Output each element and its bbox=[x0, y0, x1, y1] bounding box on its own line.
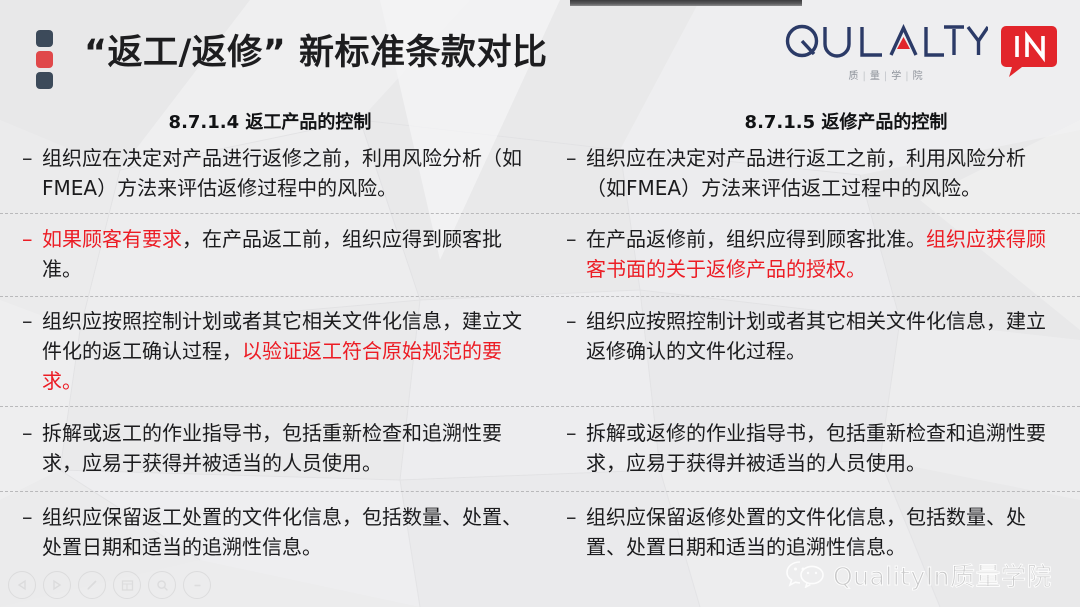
clause-text: 组织应在决定对产品进行返工之前，利用风险分析（如FMEA）方法来评估返工过程中的… bbox=[586, 143, 1062, 203]
clause-text: 组织应保留返工处置的文件化信息，包括数量、处置、处置日期和适当的追溯性信息。 bbox=[42, 502, 526, 562]
previous-slide-button[interactable] bbox=[8, 571, 36, 599]
table-cell-left: –组织应在决定对产品进行返修之前，利用风险分析（如FMEA）方法来评估返修过程中… bbox=[0, 137, 540, 213]
table-cell-left: –拆解或返工的作业指导书，包括重新检查和追溯性要求，应易于获得并被适当的人员使用… bbox=[0, 407, 540, 491]
clause-text: 在产品返修前，组织应得到顾客批准。组织应获得顾客书面的关于返修产品的授权。 bbox=[586, 224, 1062, 284]
clause-text: 组织应保留返修处置的文件化信息，包括数量、处置、处置日期和适当的追溯性信息。 bbox=[586, 502, 1062, 562]
clause-plain: 拆解或返修的作业指导书，包括重新检查和追溯性要求，应易于获得并被适当的人员使用。 bbox=[586, 421, 1046, 475]
bullet-dash-icon: – bbox=[566, 143, 586, 173]
comparison-rows: –组织应在决定对产品进行返修之前，利用风险分析（如FMEA）方法来评估返修过程中… bbox=[0, 137, 1080, 572]
clause-text: 组织应按照控制计划或者其它相关文件化信息，建立返修确认的文件化过程。 bbox=[586, 306, 1062, 366]
pen-tool-button[interactable] bbox=[78, 571, 106, 599]
table-cell-right: –拆解或返修的作业指导书，包括重新检查和追溯性要求，应易于获得并被适当的人员使用… bbox=[540, 407, 1080, 491]
bullet-dash-icon: – bbox=[22, 502, 42, 532]
clause-plain: 拆解或返工的作业指导书，包括重新检查和追溯性要求，应易于获得并被适当的人员使用。 bbox=[42, 421, 502, 475]
table-cell-left: –组织应保留返工处置的文件化信息，包括数量、处置、处置日期和适当的追溯性信息。 bbox=[0, 492, 540, 572]
bullet-square-3 bbox=[36, 72, 53, 89]
bullet-dash-icon: – bbox=[22, 224, 42, 254]
table-cell-right: –在产品返修前，组织应得到顾客批准。组织应获得顾客书面的关于返修产品的授权。 bbox=[540, 214, 1080, 296]
bullet-dash-icon: – bbox=[566, 306, 586, 336]
clause-plain: 组织应在决定对产品进行返修之前，利用风险分析（如FMEA）方法来评估返修过程中的… bbox=[42, 146, 522, 200]
wechat-icon bbox=[785, 558, 825, 593]
column-header-row: 8.7.1.4 返工产品的控制 8.7.1.5 返修产品的控制 bbox=[0, 108, 1080, 137]
clause-plain: 组织应按照控制计划或者其它相关文件化信息，建立返修确认的文件化过程。 bbox=[586, 309, 1046, 363]
clause-text: 拆解或返修的作业指导书，包括重新检查和追溯性要求，应易于获得并被适当的人员使用。 bbox=[586, 418, 1062, 478]
clause-plain: 在产品返修前，组织应得到顾客批准。 bbox=[586, 227, 926, 251]
table-row: –如果顾客有要求，在产品返工前，组织应得到顾客批准。–在产品返修前，组织应得到顾… bbox=[0, 214, 1080, 297]
bullet-square-1 bbox=[36, 30, 53, 47]
brand-logo: 质|量|学|院 bbox=[784, 24, 1058, 83]
clause-text: 拆解或返工的作业指导书，包括重新检查和追溯性要求，应易于获得并被适当的人员使用。 bbox=[42, 418, 526, 478]
clause-text: 如果顾客有要求，在产品返工前，组织应得到顾客批准。 bbox=[42, 224, 526, 284]
bullet-dash-icon: – bbox=[22, 306, 42, 336]
clause-highlight: 如果顾客有要求 bbox=[42, 227, 182, 251]
clause-text: 组织应在决定对产品进行返修之前，利用风险分析（如FMEA）方法来评估返修过程中的… bbox=[42, 143, 526, 203]
title-bullet-marker bbox=[36, 30, 53, 93]
clause-plain: 组织应保留返修处置的文件化信息，包括数量、处置、处置日期和适当的追溯性信息。 bbox=[586, 505, 1026, 559]
column-header-repair: 8.7.1.5 返修产品的控制 bbox=[560, 108, 1080, 137]
table-cell-left: –组织应按照控制计划或者其它相关文件化信息，建立文件化的返工确认过程，以验证返工… bbox=[0, 297, 540, 406]
player-toolbar[interactable] bbox=[8, 571, 211, 599]
bullet-dash-icon: – bbox=[22, 418, 42, 448]
clause-plain: 组织应在决定对产品进行返工之前，利用风险分析（如FMEA）方法来评估返工过程中的… bbox=[586, 146, 1026, 200]
logo-subtitle: 质|量|学|院 bbox=[784, 67, 988, 82]
table-row: –拆解或返工的作业指导书，包括重新检查和追溯性要求，应易于获得并被适当的人员使用… bbox=[0, 407, 1080, 492]
bullet-square-2 bbox=[36, 51, 53, 68]
clause-text: 组织应按照控制计划或者其它相关文件化信息，建立文件化的返工确认过程，以验证返工符… bbox=[42, 306, 526, 396]
table-cell-right: –组织应在决定对产品进行返工之前，利用风险分析（如FMEA）方法来评估返工过程中… bbox=[540, 137, 1080, 213]
comparison-table: 8.7.1.4 返工产品的控制 8.7.1.5 返修产品的控制 –组织应在决定对… bbox=[0, 108, 1080, 572]
watermark: QualityIn质量学院 bbox=[785, 557, 1052, 593]
table-row: –组织应按照控制计划或者其它相关文件化信息，建立文件化的返工确认过程，以验证返工… bbox=[0, 297, 1080, 407]
clause-plain: 组织应保留返工处置的文件化信息，包括数量、处置、处置日期和适当的追溯性信息。 bbox=[42, 505, 522, 559]
bullet-dash-icon: – bbox=[566, 418, 586, 448]
watermark-text: QualityIn质量学院 bbox=[833, 557, 1052, 593]
top-dark-strip bbox=[570, 0, 802, 6]
table-cell-left: –如果顾客有要求，在产品返工前，组织应得到顾客批准。 bbox=[0, 214, 540, 296]
bullet-dash-icon: – bbox=[22, 143, 42, 173]
column-header-rework: 8.7.1.4 返工产品的控制 bbox=[0, 108, 560, 137]
table-cell-right: –组织应按照控制计划或者其它相关文件化信息，建立返修确认的文件化过程。 bbox=[540, 297, 1080, 406]
next-slide-button[interactable] bbox=[43, 571, 71, 599]
zoom-button[interactable] bbox=[148, 571, 176, 599]
more-options-button[interactable] bbox=[183, 571, 211, 599]
logo-in-badge bbox=[1000, 24, 1058, 83]
slide-canvas: “返工/返修” 新标准条款对比 bbox=[0, 0, 1080, 607]
bullet-dash-icon: – bbox=[566, 502, 586, 532]
logo-wordmark bbox=[784, 24, 988, 65]
slide-grid-button[interactable] bbox=[113, 571, 141, 599]
page-title: “返工/返修” 新标准条款对比 bbox=[84, 24, 547, 75]
table-row: –组织应在决定对产品进行返修之前，利用风险分析（如FMEA）方法来评估返修过程中… bbox=[0, 137, 1080, 214]
bullet-dash-icon: – bbox=[566, 224, 586, 254]
